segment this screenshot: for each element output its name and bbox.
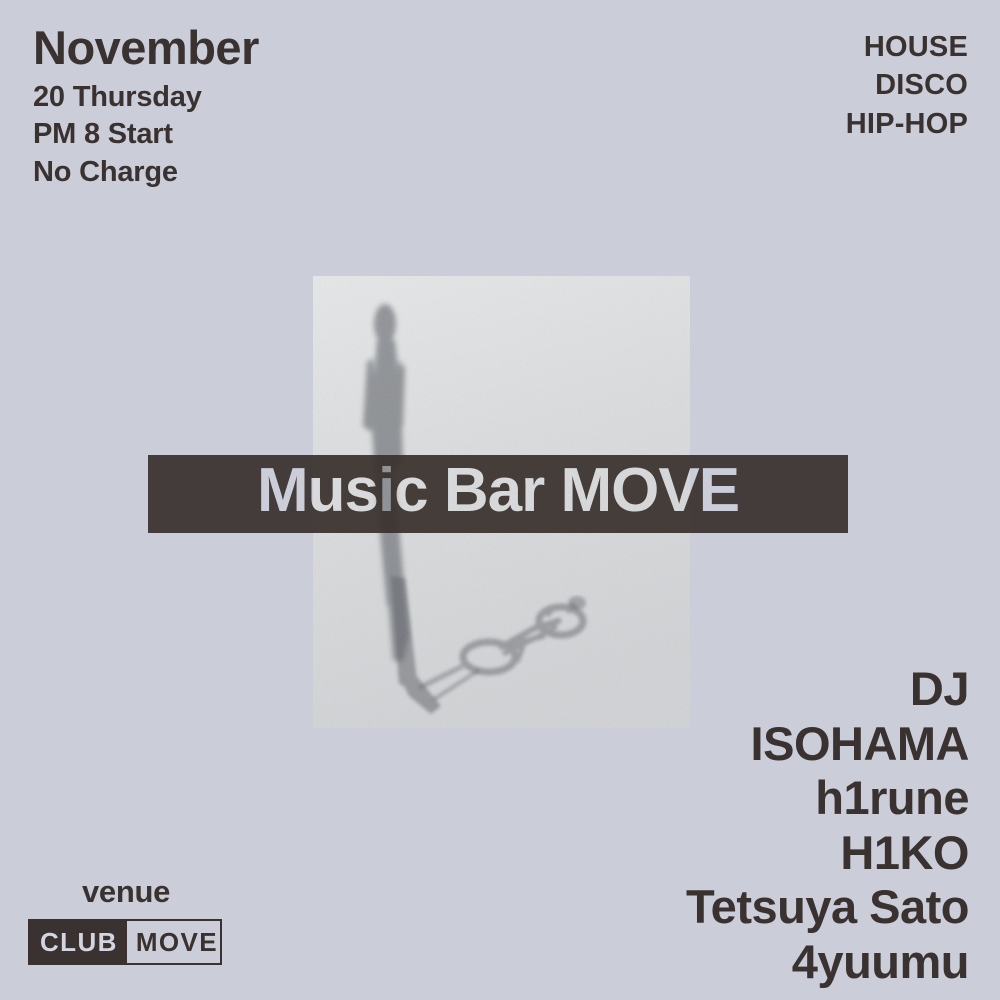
event-start-time: PM 8 Start [33, 116, 259, 154]
logo-word-move: MOVE [136, 929, 218, 955]
logo-word-club: CLUB [40, 929, 118, 955]
logo-left-panel: CLUB [30, 921, 127, 963]
logo-right-panel: MOVE [127, 921, 228, 963]
venue-label: venue [28, 876, 224, 907]
lineup-item-dj: DJ [686, 662, 969, 717]
genre-item-hiphop: HIP-HOP [846, 105, 968, 143]
lineup-item-h1ko: H1KO [686, 826, 969, 881]
poster-canvas: November 20 Thursday PM 8 Start No Charg… [0, 0, 1000, 1000]
event-price: No Charge [33, 154, 259, 192]
genre-item-disco: DISCO [846, 66, 968, 104]
lineup-block: DJ ISOHAMA h1rune H1KO Tetsuya Sato 4yuu… [686, 662, 969, 989]
event-month: November [33, 22, 259, 75]
genre-item-house: HOUSE [846, 28, 968, 66]
event-date-block: November 20 Thursday PM 8 Start No Charg… [33, 22, 259, 192]
lineup-item-4yuumu: 4yuumu [686, 935, 969, 990]
title-banner: Music Bar MOVE [148, 455, 848, 533]
lineup-item-isohama: ISOHAMA [686, 717, 969, 772]
venue-block: venue CLUB MOVE [28, 876, 224, 965]
title-banner-artwork: Music Bar MOVE [148, 455, 848, 533]
club-move-logo: CLUB MOVE [28, 919, 222, 965]
lineup-item-h1rune: h1rune [686, 771, 969, 826]
event-day: 20 Thursday [33, 79, 259, 117]
lineup-item-tetsuya-sato: Tetsuya Sato [686, 880, 969, 935]
genre-block: HOUSE DISCO HIP-HOP [846, 28, 968, 143]
